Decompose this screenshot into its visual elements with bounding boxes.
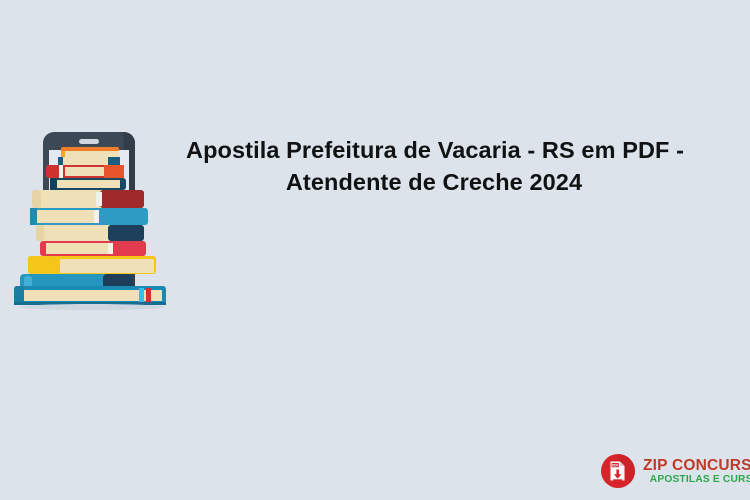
book-yellow bbox=[28, 256, 156, 274]
zip-concursos-logo[interactable]: PDF ZIP CONCURSOS APOSTILAS E CURSOS bbox=[598, 450, 744, 492]
book-navy-upper bbox=[50, 178, 126, 190]
book-top-cream bbox=[58, 157, 120, 165]
book-top-orange bbox=[61, 147, 119, 157]
pdf-download-icon: PDF bbox=[598, 451, 638, 491]
title-line-1: Apostila Prefeitura de Vacaria - RS em P… bbox=[186, 134, 682, 166]
book-red-band bbox=[46, 165, 124, 178]
book-teal-wide bbox=[30, 208, 148, 225]
logo-text-block: ZIP CONCURSOS APOSTILAS E CURSOS bbox=[643, 457, 750, 486]
svg-text:PDF: PDF bbox=[612, 463, 619, 467]
book-red-pink bbox=[40, 241, 146, 256]
book-cream-navy bbox=[36, 225, 144, 241]
book-bottom-teal bbox=[14, 286, 166, 305]
title-line-2: Atendente de Creche 2024 bbox=[186, 166, 682, 198]
books-illustration bbox=[8, 118, 178, 313]
logo-main-text: ZIP CONCURSOS bbox=[643, 457, 750, 474]
page-title: Apostila Prefeitura de Vacaria - RS em P… bbox=[186, 134, 682, 198]
book-cream-darkred bbox=[32, 190, 144, 208]
promo-card: Apostila Prefeitura de Vacaria - RS em P… bbox=[0, 0, 750, 500]
logo-sub-text: APOSTILAS E CURSOS bbox=[643, 474, 750, 486]
